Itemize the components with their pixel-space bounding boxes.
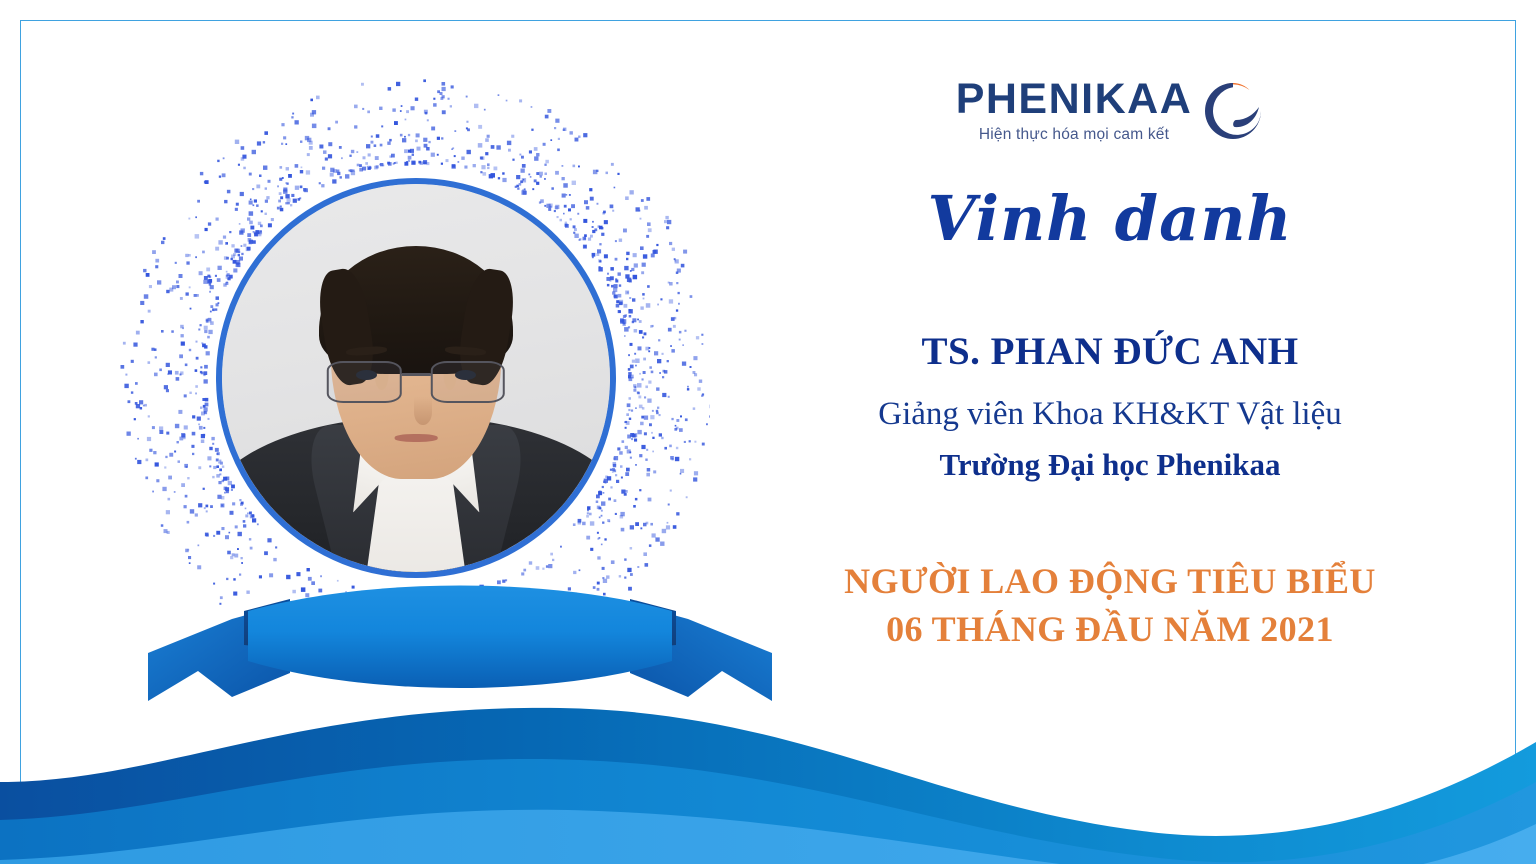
bottom-wave-decoration [0, 664, 1536, 864]
page-title: Vinh danh [760, 186, 1460, 251]
award-title-line1: NGƯỜI LAO ĐỘNG TIÊU BIỂU [760, 557, 1460, 605]
award-title-block: NGƯỜI LAO ĐỘNG TIÊU BIỂU 06 THÁNG ĐẦU NĂ… [760, 557, 1460, 653]
award-title-line2: 06 THÁNG ĐẦU NĂM 2021 [760, 605, 1460, 653]
honoree-role: Giảng viên Khoa KH&KT Vật liệu [760, 396, 1460, 433]
certificate-slide: PHENIKAA Hiện thực hóa mọi cam kết Vinh … [0, 0, 1536, 864]
logo-tagline: Hiện thực hóa mọi cam kết [979, 126, 1169, 144]
honoree-block: TS. PHAN ĐỨC ANH Giảng viên Khoa KH&KT V… [760, 329, 1460, 483]
logo-wordmark: PHENIKAA [956, 78, 1193, 121]
phenikaa-circle-swoosh-icon [1202, 80, 1264, 142]
phenikaa-logo: PHENIKAA Hiện thực hóa mọi cam kết [760, 78, 1460, 144]
portrait-medallion [70, 55, 710, 675]
portrait-photo [216, 178, 616, 578]
content-column: PHENIKAA Hiện thực hóa mọi cam kết Vinh … [760, 60, 1460, 700]
honoree-organization: Trường Đại học Phenikaa [760, 447, 1460, 483]
honoree-name: TS. PHAN ĐỨC ANH [760, 329, 1460, 374]
